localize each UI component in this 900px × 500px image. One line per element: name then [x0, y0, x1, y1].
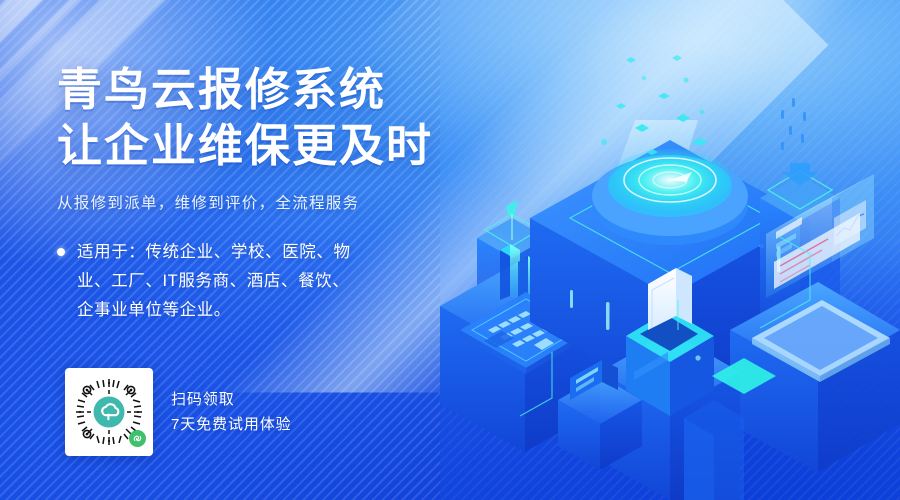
qr-caption-line-1: 扫码领取: [171, 387, 292, 412]
qr-caption: 扫码领取 7天免费试用体验: [171, 387, 292, 437]
bullet-dot-icon: [57, 248, 65, 256]
qr-section: 扫码领取 7天免费试用体验: [65, 368, 292, 456]
isometric-illustration: [430, 0, 900, 500]
subtitle: 从报修到派单，维修到评价，全流程服务: [57, 191, 477, 213]
front-towers: [684, 400, 744, 500]
qr-caption-line-2: 7天免费试用体验: [171, 412, 292, 437]
qr-code[interactable]: [65, 368, 153, 456]
list-item-label: 适用于：传统企业、学校、医院、物业、工厂、IT服务商、酒店、餐饮、企事业单位等企…: [77, 238, 365, 325]
copy-block: 青鸟云报修系统 让企业维保更及时 从报修到派单，维修到评价，全流程服务 适用于：…: [57, 62, 477, 325]
radar-ripple-disc: [592, 149, 748, 245]
promo-banner: 青鸟云报修系统 让企业维保更及时 从报修到派单，维修到评价，全流程服务 适用于：…: [0, 0, 900, 500]
headline-line-1: 青鸟云报修系统: [57, 62, 477, 118]
list-item: 适用于：传统企业、学校、医院、物业、工厂、IT服务商、酒店、餐饮、企事业单位等企…: [57, 238, 477, 325]
headline-line-2: 让企业维保更及时: [57, 118, 477, 174]
page-title: 青鸟云报修系统 让企业维保更及时: [57, 62, 477, 174]
feature-list: 适用于：传统企业、学校、医院、物业、工厂、IT服务商、酒店、餐饮、企事业单位等企…: [57, 238, 477, 325]
miniprogram-badge-icon: [129, 430, 146, 447]
